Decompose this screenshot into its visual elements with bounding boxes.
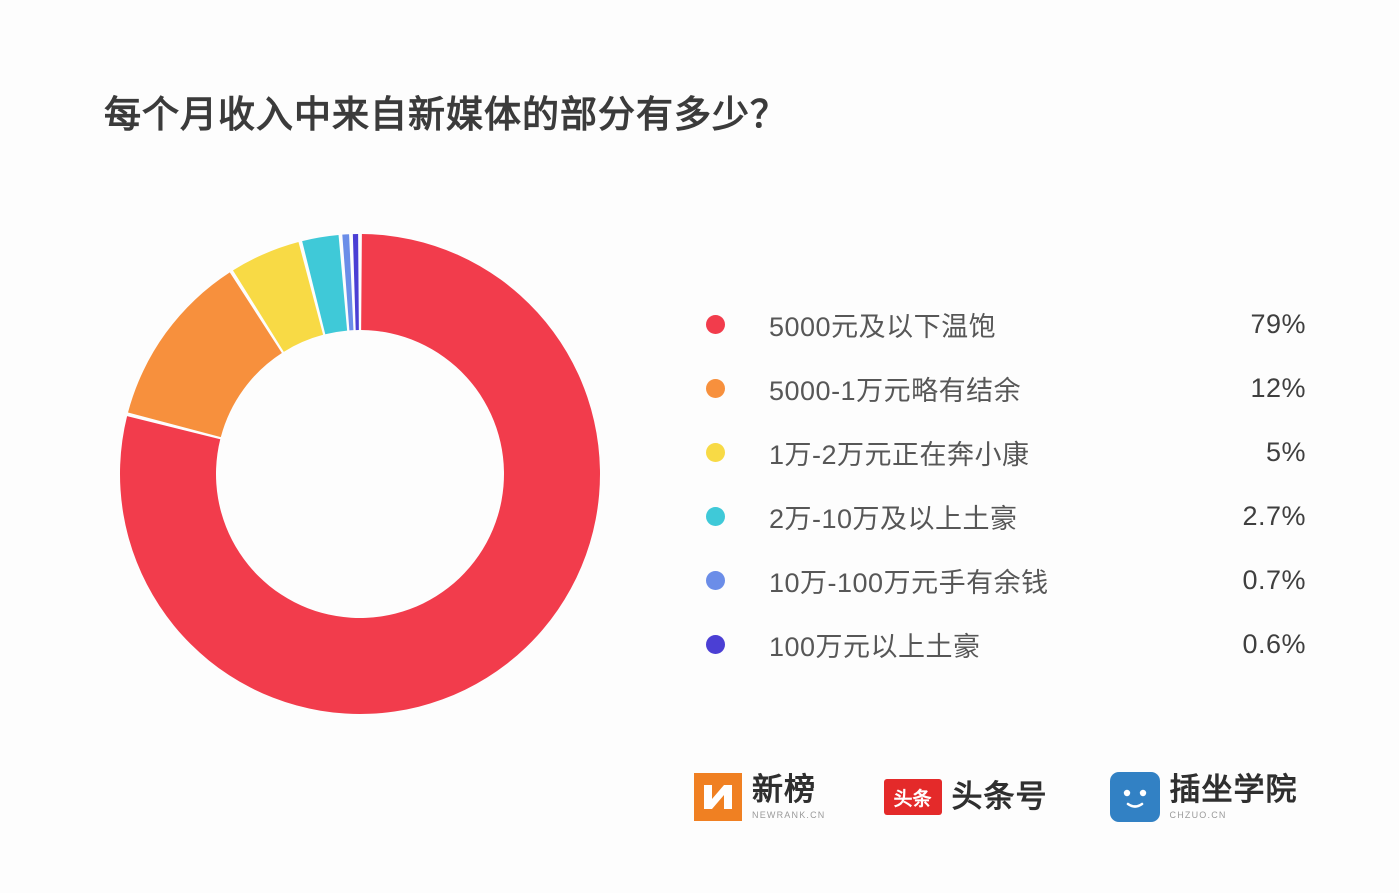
- legend-item-label: 2万-10万及以上土豪: [769, 497, 1186, 536]
- chazuo-face-icon: [1110, 772, 1160, 822]
- legend-item-0[interactable]: 5000元及以下温饱 79%: [706, 292, 1306, 356]
- legend-item-3[interactable]: 2万-10万及以上土豪 2.7%: [706, 484, 1306, 548]
- logo-name-en: NEWRANK.CN: [752, 810, 826, 820]
- chart-legend: 5000元及以下温饱 79% 5000-1万元略有结余 12% 1万-2万元正在…: [706, 292, 1306, 676]
- legend-item-label: 5000元及以下温饱: [769, 305, 1186, 344]
- legend-item-label: 100万元以上土豪: [769, 625, 1186, 664]
- legend-color-swatch-icon: [706, 379, 725, 398]
- legend-item-value: 2.7%: [1186, 501, 1306, 532]
- legend-color-swatch-icon: [706, 443, 725, 462]
- legend-item-value: 0.6%: [1186, 629, 1306, 660]
- toutiao-badge-icon: 头条: [884, 779, 942, 815]
- logo-newrank: 新榜 NEWRANK.CN: [694, 773, 826, 821]
- toutiaohao-text-block: 头条号: [952, 781, 1048, 814]
- logo-name-cn: 头条号: [952, 781, 1048, 814]
- chart-page: 每个月收入中来自新媒体的部分有多少？ 5000元及以下温饱 79% 5000-1…: [0, 0, 1399, 893]
- logo-name-cn: 新榜: [752, 774, 826, 807]
- legend-item-label: 1万-2万元正在奔小康: [769, 433, 1186, 472]
- donut-slice[interactable]: [353, 234, 359, 330]
- newrank-text-block: 新榜 NEWRANK.CN: [752, 774, 826, 820]
- legend-item-label: 5000-1万元略有结余: [769, 369, 1186, 408]
- legend-color-swatch-icon: [706, 507, 725, 526]
- legend-item-2[interactable]: 1万-2万元正在奔小康 5%: [706, 420, 1306, 484]
- legend-item-4[interactable]: 10万-100万元手有余钱 0.7%: [706, 548, 1306, 612]
- legend-item-5[interactable]: 100万元以上土豪 0.6%: [706, 612, 1306, 676]
- donut-chart: [112, 226, 608, 722]
- logo-toutiaohao: 头条 头条号: [884, 779, 1048, 815]
- newrank-n-icon: [694, 773, 742, 821]
- legend-item-label: 10万-100万元手有余钱: [769, 561, 1186, 600]
- legend-item-value: 5%: [1186, 437, 1306, 468]
- logo-chazuo: 插坐学院 CHZUO.CN: [1110, 772, 1298, 822]
- legend-item-value: 12%: [1186, 373, 1306, 404]
- logo-name-cn: 插坐学院: [1170, 774, 1298, 807]
- chazuo-text-block: 插坐学院 CHZUO.CN: [1170, 774, 1298, 820]
- legend-color-swatch-icon: [706, 571, 725, 590]
- legend-item-1[interactable]: 5000-1万元略有结余 12%: [706, 356, 1306, 420]
- donut-slice-group: [120, 234, 600, 714]
- logo-name-en: CHZUO.CN: [1170, 810, 1298, 820]
- legend-color-swatch-icon: [706, 315, 725, 334]
- donut-chart-svg: [112, 226, 608, 722]
- legend-color-swatch-icon: [706, 635, 725, 654]
- footer-logo-bar: 新榜 NEWRANK.CN 头条 头条号 插坐学院 CHZUO.CN: [694, 772, 1298, 822]
- page-title: 每个月收入中来自新媒体的部分有多少？: [104, 84, 788, 138]
- legend-item-value: 79%: [1186, 309, 1306, 340]
- legend-item-value: 0.7%: [1186, 565, 1306, 596]
